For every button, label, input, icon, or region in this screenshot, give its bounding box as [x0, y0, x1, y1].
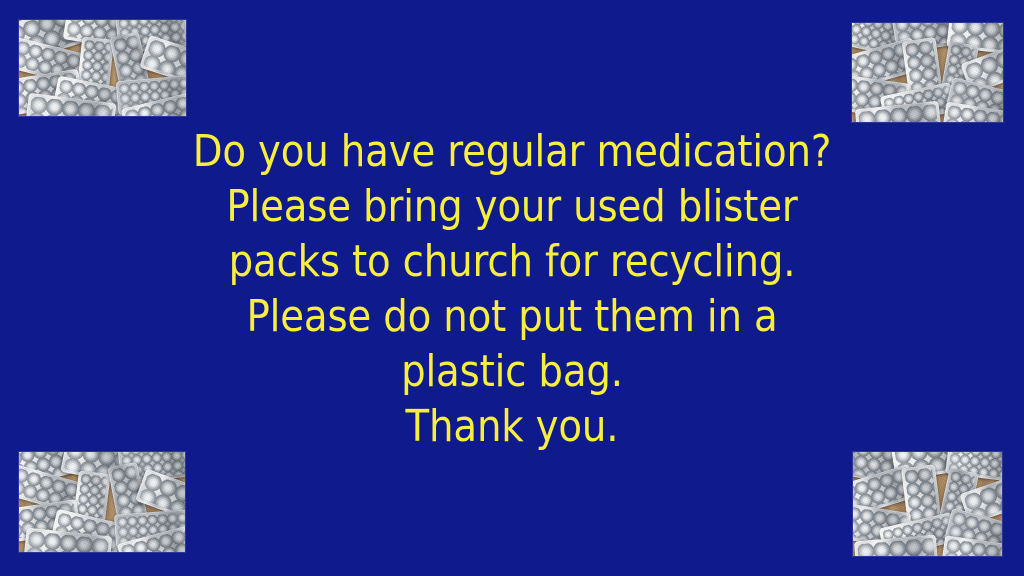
blister-packs-image-top-left — [19, 20, 186, 116]
photo-grain-overlay — [19, 452, 185, 552]
message-line-2: Please bring your used blister — [61, 179, 962, 234]
photo-grain-overlay — [853, 452, 1002, 556]
message-line-1: Do you have regular medication? — [61, 124, 962, 179]
photo-grain-overlay — [19, 20, 186, 116]
announcement-message: Do you have regular medication? Please b… — [61, 124, 962, 454]
blister-packs-image-top-right — [852, 23, 1003, 122]
message-line-5: plastic bag. — [61, 344, 962, 399]
message-line-3: packs to church for recycling. — [61, 234, 962, 289]
blister-packs-image-bottom-left — [19, 452, 185, 552]
slide-canvas: Do you have regular medication? Please b… — [0, 0, 1024, 576]
message-line-6: Thank you. — [61, 399, 962, 454]
photo-grain-overlay — [852, 23, 1003, 122]
message-line-4: Please do not put them in a — [61, 289, 962, 344]
blister-packs-image-bottom-right — [853, 452, 1002, 556]
